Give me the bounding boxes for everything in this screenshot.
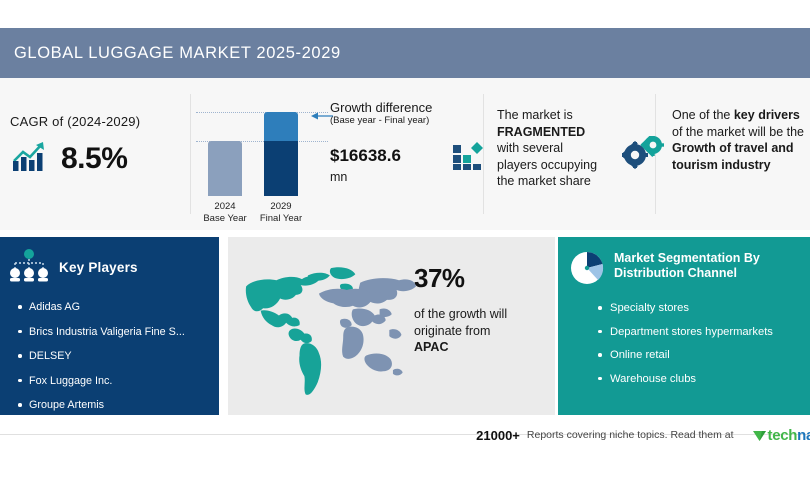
growth-arrow-icon (310, 108, 332, 118)
list-item: Online retail (598, 348, 806, 362)
squares-pattern-icon (453, 140, 487, 175)
cagr-value: 8.5% (61, 142, 127, 176)
technavio-mark-icon (752, 427, 768, 443)
drivers-bold-line1: Growth of travel and (672, 140, 810, 157)
key-players-title: Key Players (59, 260, 138, 275)
fragmentation-line1: The market is (497, 107, 637, 124)
segmentation-list: Specialty stores Department stores hyper… (558, 301, 810, 386)
gridline-final (196, 112, 328, 113)
fragmentation-line3: players occupying (497, 157, 637, 174)
bar-growth-segment (264, 112, 298, 141)
list-item: Warehouse clubs (598, 372, 806, 386)
fragmentation-line2: with several (497, 140, 637, 157)
growth-amount: $16638.6 (330, 146, 401, 166)
page-title: GLOBAL LUGGAGE MARKET 2025-2029 (0, 44, 341, 63)
bar-base-segment (264, 141, 298, 196)
bar-2029 (264, 112, 298, 196)
growth-difference-callout: Growth difference (Base year - Final yea… (330, 100, 465, 127)
key-drivers-block: One of the key drivers of the market wil… (672, 107, 810, 173)
fragmentation-line4: the market share (497, 173, 637, 190)
cagr-label: CAGR of (2024-2029) (10, 114, 185, 129)
footer: 21000+ Reports covering niche topics. Re… (0, 420, 810, 450)
region-panel: 37% of the growth will originate from AP… (228, 237, 555, 415)
list-item: DELSEY (18, 349, 213, 363)
report-count: 21000+ (476, 428, 520, 443)
bar-chart-growth-icon (10, 139, 50, 178)
footer-text: Reports covering niche topics. Read them… (527, 429, 734, 441)
gears-icon (622, 136, 664, 175)
drivers-line1: One of the key drivers (672, 107, 810, 124)
region-description: of the growth will originate from APAC (414, 306, 549, 356)
world-map-icon (234, 251, 416, 403)
growth-callout-sub: (Base year - Final year) (330, 115, 465, 127)
divider-1 (190, 94, 191, 214)
segmentation-title: Market Segmentation By Distribution Chan… (614, 251, 760, 281)
growth-amount-unit: mn (330, 170, 347, 184)
list-item: Fox Luggage Inc. (18, 374, 213, 388)
fragmentation-bold: FRAGMENTED (497, 125, 585, 139)
key-players-list: Adidas AG Brics Industria Valigeria Fine… (0, 300, 219, 412)
list-item: Brics Industria Valigeria Fine S... (18, 325, 213, 339)
header-bar: GLOBAL LUGGAGE MARKET 2025-2029 (0, 28, 810, 78)
pie-chart-icon (570, 251, 604, 290)
list-item: Specialty stores (598, 301, 806, 315)
list-item: Adidas AG (18, 300, 213, 314)
cagr-block: CAGR of (2024-2029) 8.5% (10, 114, 185, 178)
bar-2024-caption: 2024Base Year (197, 201, 253, 224)
org-network-icon (8, 248, 50, 287)
bar-2024 (208, 141, 242, 196)
technavio-logo: technavi (752, 427, 810, 444)
growth-callout-title: Growth difference (330, 100, 465, 115)
growth-bar-chart: 2024Base Year 2029Final Year (196, 100, 326, 224)
key-players-panel: Key Players Adidas AG Brics Industria Va… (0, 237, 219, 415)
drivers-line2: of the market will be the (672, 124, 810, 141)
list-item: Department stores hypermarkets (598, 325, 806, 339)
infographic-canvas: GLOBAL LUGGAGE MARKET 2025-2029 CAGR of … (0, 0, 810, 480)
list-item: Groupe Artemis (18, 398, 213, 412)
stats-row: CAGR of (2024-2029) 8.5% (0, 78, 810, 230)
region-stat-block: 37% of the growth will originate from AP… (414, 263, 549, 356)
fragmentation-block: The market is FRAGMENTED with several pl… (497, 107, 637, 190)
technavio-wordmark: technavi (768, 427, 810, 444)
segmentation-panel: Market Segmentation By Distribution Chan… (558, 237, 810, 415)
region-percent: 37% (414, 263, 549, 294)
bar-2029-caption: 2029Final Year (253, 201, 309, 224)
drivers-bold-line2: tourism industry (672, 157, 810, 174)
